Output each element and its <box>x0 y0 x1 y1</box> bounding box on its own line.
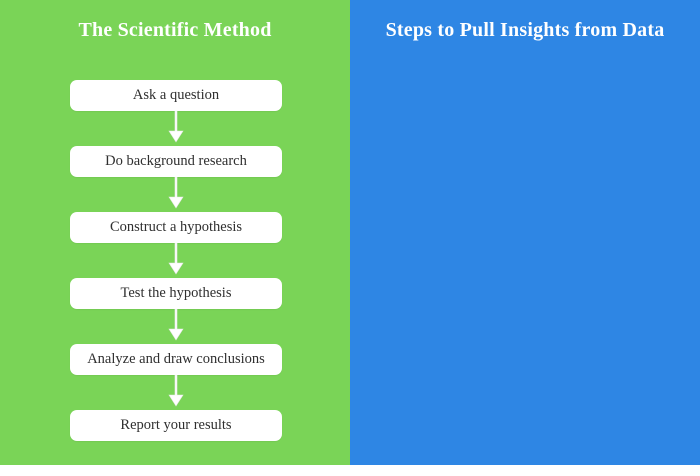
flowchart: Ask a question Do background research Co… <box>70 80 282 476</box>
flow-step: Ask a question <box>70 80 282 146</box>
arrow-down-icon <box>165 309 187 344</box>
arrow-down-icon <box>165 177 187 212</box>
arrow-down-icon <box>165 243 187 278</box>
flow-step: Test the hypothesis <box>70 278 282 344</box>
flow-box-report-your-results: Report your results <box>70 410 282 441</box>
flow-step: Construct a hypothesis <box>70 212 282 278</box>
infographic-root: The Scientific Method Ask a question Do … <box>0 0 700 465</box>
arrow-down-icon <box>165 375 187 410</box>
right-panel-steps-to-pull-insights: Steps to Pull Insights from Data 1 Start… <box>350 0 700 465</box>
right-panel-title: Steps to Pull Insights from Data <box>350 19 700 42</box>
flow-box-construct-a-hypothesis: Construct a hypothesis <box>70 212 282 243</box>
left-panel-title: The Scientific Method <box>0 19 350 42</box>
flow-step: Analyze and draw conclusions <box>70 344 282 410</box>
flow-box-ask-a-question: Ask a question <box>70 80 282 111</box>
flow-step: Report your results <box>70 410 282 476</box>
left-panel-scientific-method: The Scientific Method Ask a question Do … <box>0 0 350 465</box>
flow-box-test-the-hypothesis: Test the hypothesis <box>70 278 282 309</box>
flow-step: Do background research <box>70 146 282 212</box>
flow-box-do-background-research: Do background research <box>70 146 282 177</box>
flow-box-analyze-and-draw-conclusions: Analyze and draw conclusions <box>70 344 282 375</box>
arrow-down-icon <box>165 111 187 146</box>
